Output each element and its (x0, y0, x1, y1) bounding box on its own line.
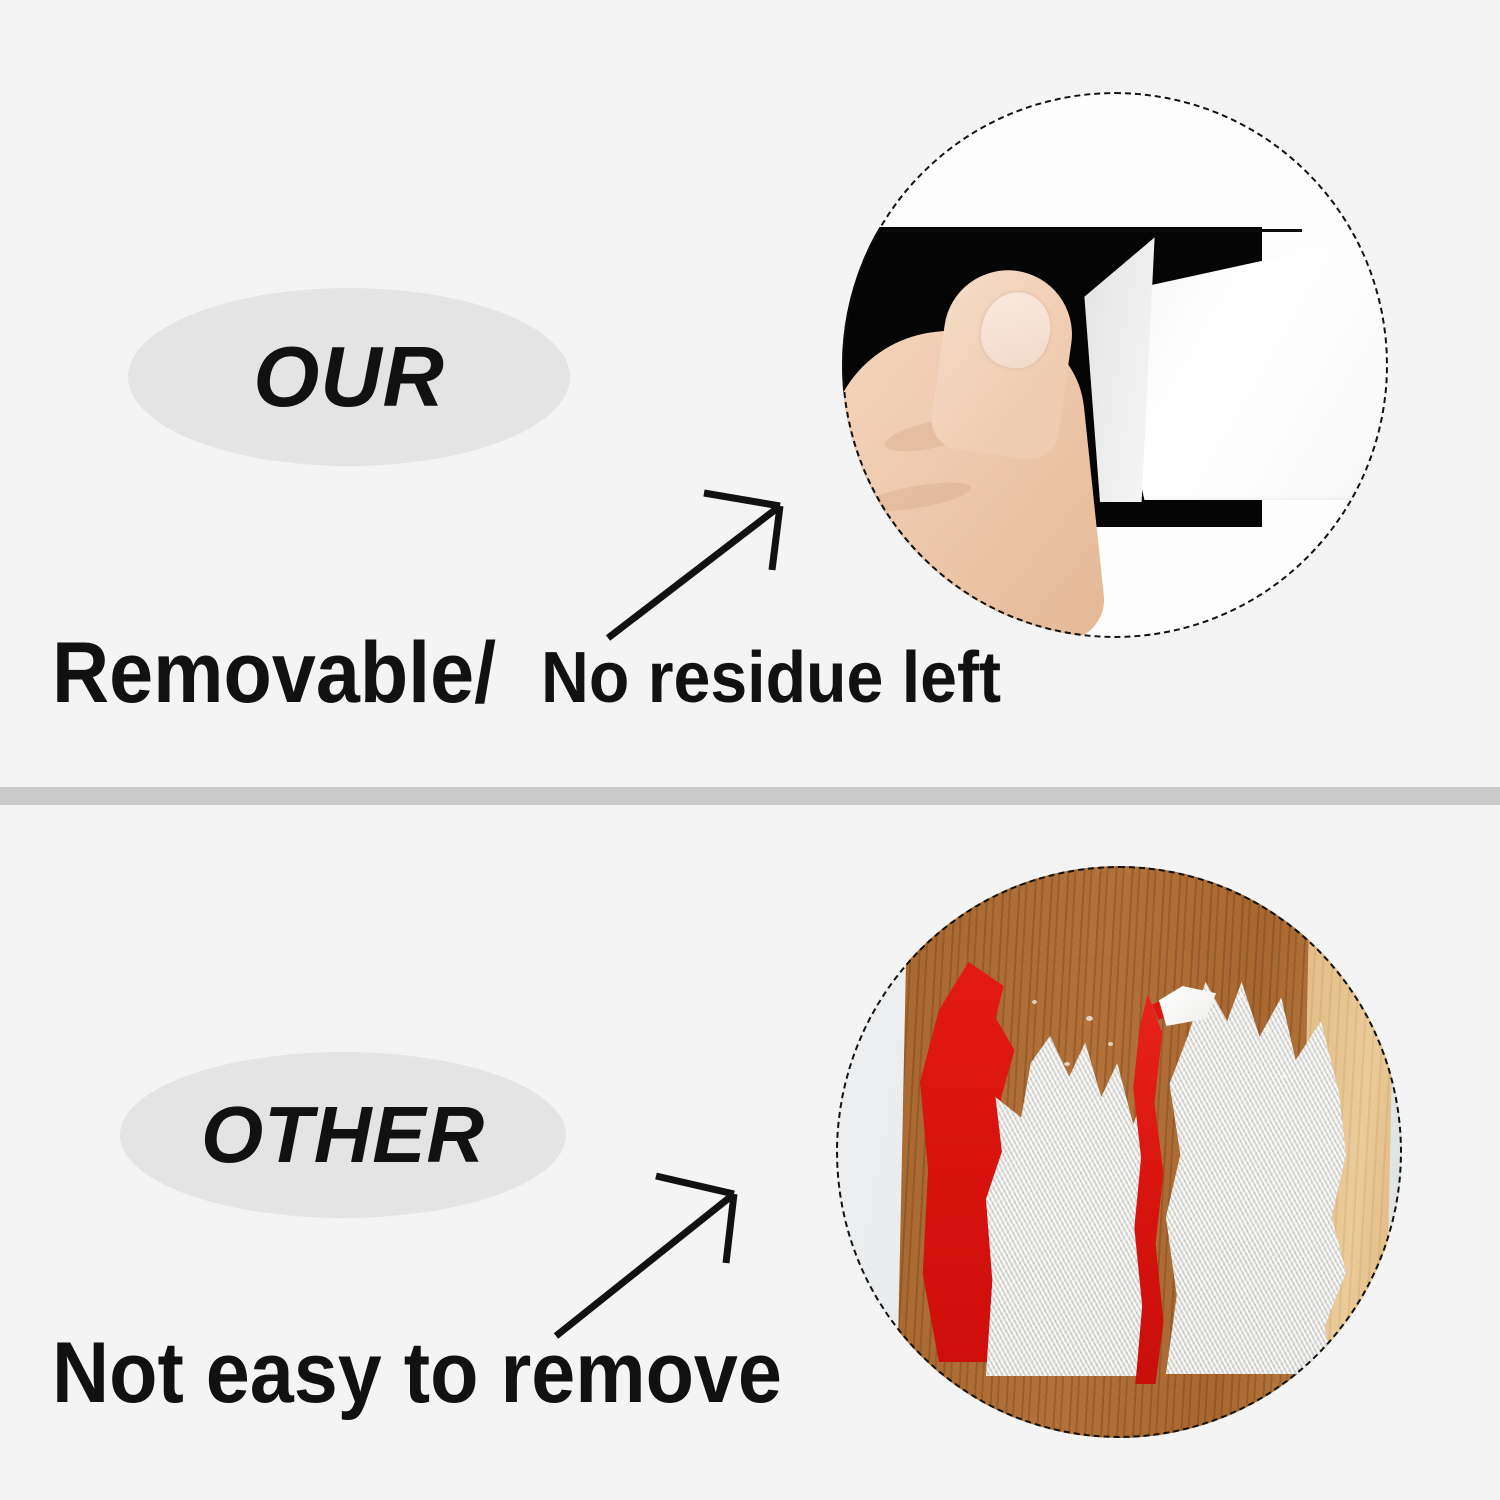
caption-our: Removable/ No residue left (52, 630, 1041, 716)
hand-peeling-film-photo (842, 92, 1388, 638)
arrow-up-right-icon-our (600, 470, 810, 650)
caption-our-sub: No residue left (541, 642, 1001, 714)
caption-other-main: Not easy to remove (52, 1330, 782, 1416)
surface-edge (882, 229, 1302, 232)
caption-our-main: Removable/ (52, 630, 496, 716)
badge-other-label: OTHER (201, 1095, 485, 1175)
caption-other: Not easy to remove (52, 1330, 845, 1416)
comparison-infographic: OUR Removable/ No residue left OTHER Not… (0, 0, 1500, 1500)
sticker-residue-on-wood-photo (836, 866, 1402, 1438)
panel-divider (0, 787, 1500, 805)
badge-other: OTHER (120, 1052, 566, 1218)
badge-our: OUR (128, 288, 570, 466)
hand (842, 270, 1132, 638)
wood-flecks (836, 866, 1402, 1438)
arrow-up-right-icon-other (548, 1158, 768, 1348)
badge-our-label: OUR (253, 335, 444, 420)
